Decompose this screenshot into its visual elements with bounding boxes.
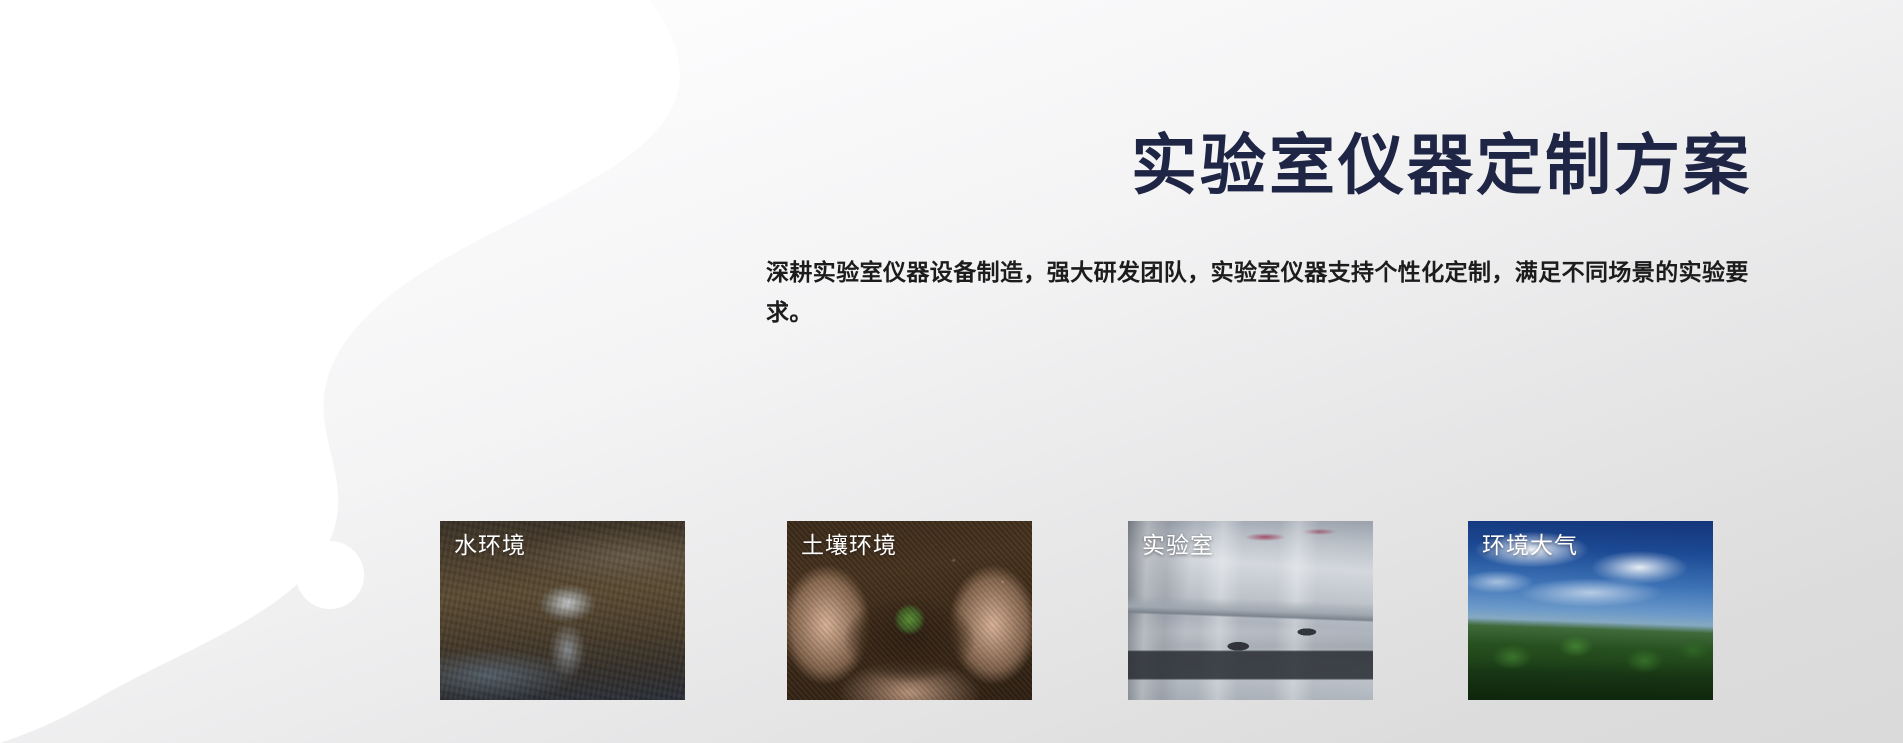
category-card-soil[interactable]: 土壤环境 — [787, 521, 1032, 700]
category-card-water[interactable]: 水环境 — [440, 521, 685, 700]
page-subtitle: 深耕实验室仪器设备制造，强大研发团队，实验室仪器支持个性化定制，满足不同场景的实… — [760, 253, 1760, 334]
hero-banner: 实验室仪器定制方案 深耕实验室仪器设备制造，强大研发团队，实验室仪器支持个性化定… — [0, 0, 1903, 743]
category-label: 实验室 — [1142, 533, 1214, 561]
decor-circle-upper — [340, 130, 452, 242]
category-card-laboratory[interactable]: 实验室 — [1128, 521, 1373, 700]
category-label: 环境大气 — [1482, 533, 1578, 561]
category-card-atmosphere[interactable]: 环境大气 — [1468, 521, 1713, 700]
category-card-row: 水环境 土壤环境 实验室 环境大气 — [440, 521, 1695, 701]
category-label: 土壤环境 — [801, 533, 897, 561]
headline-block: 实验室仪器定制方案 深耕实验室仪器设备制造，强大研发团队，实验室仪器支持个性化定… — [760, 130, 1760, 333]
category-label: 水环境 — [454, 533, 526, 561]
page-title: 实验室仪器定制方案 — [760, 130, 1760, 203]
decor-circle-lower — [296, 541, 364, 609]
